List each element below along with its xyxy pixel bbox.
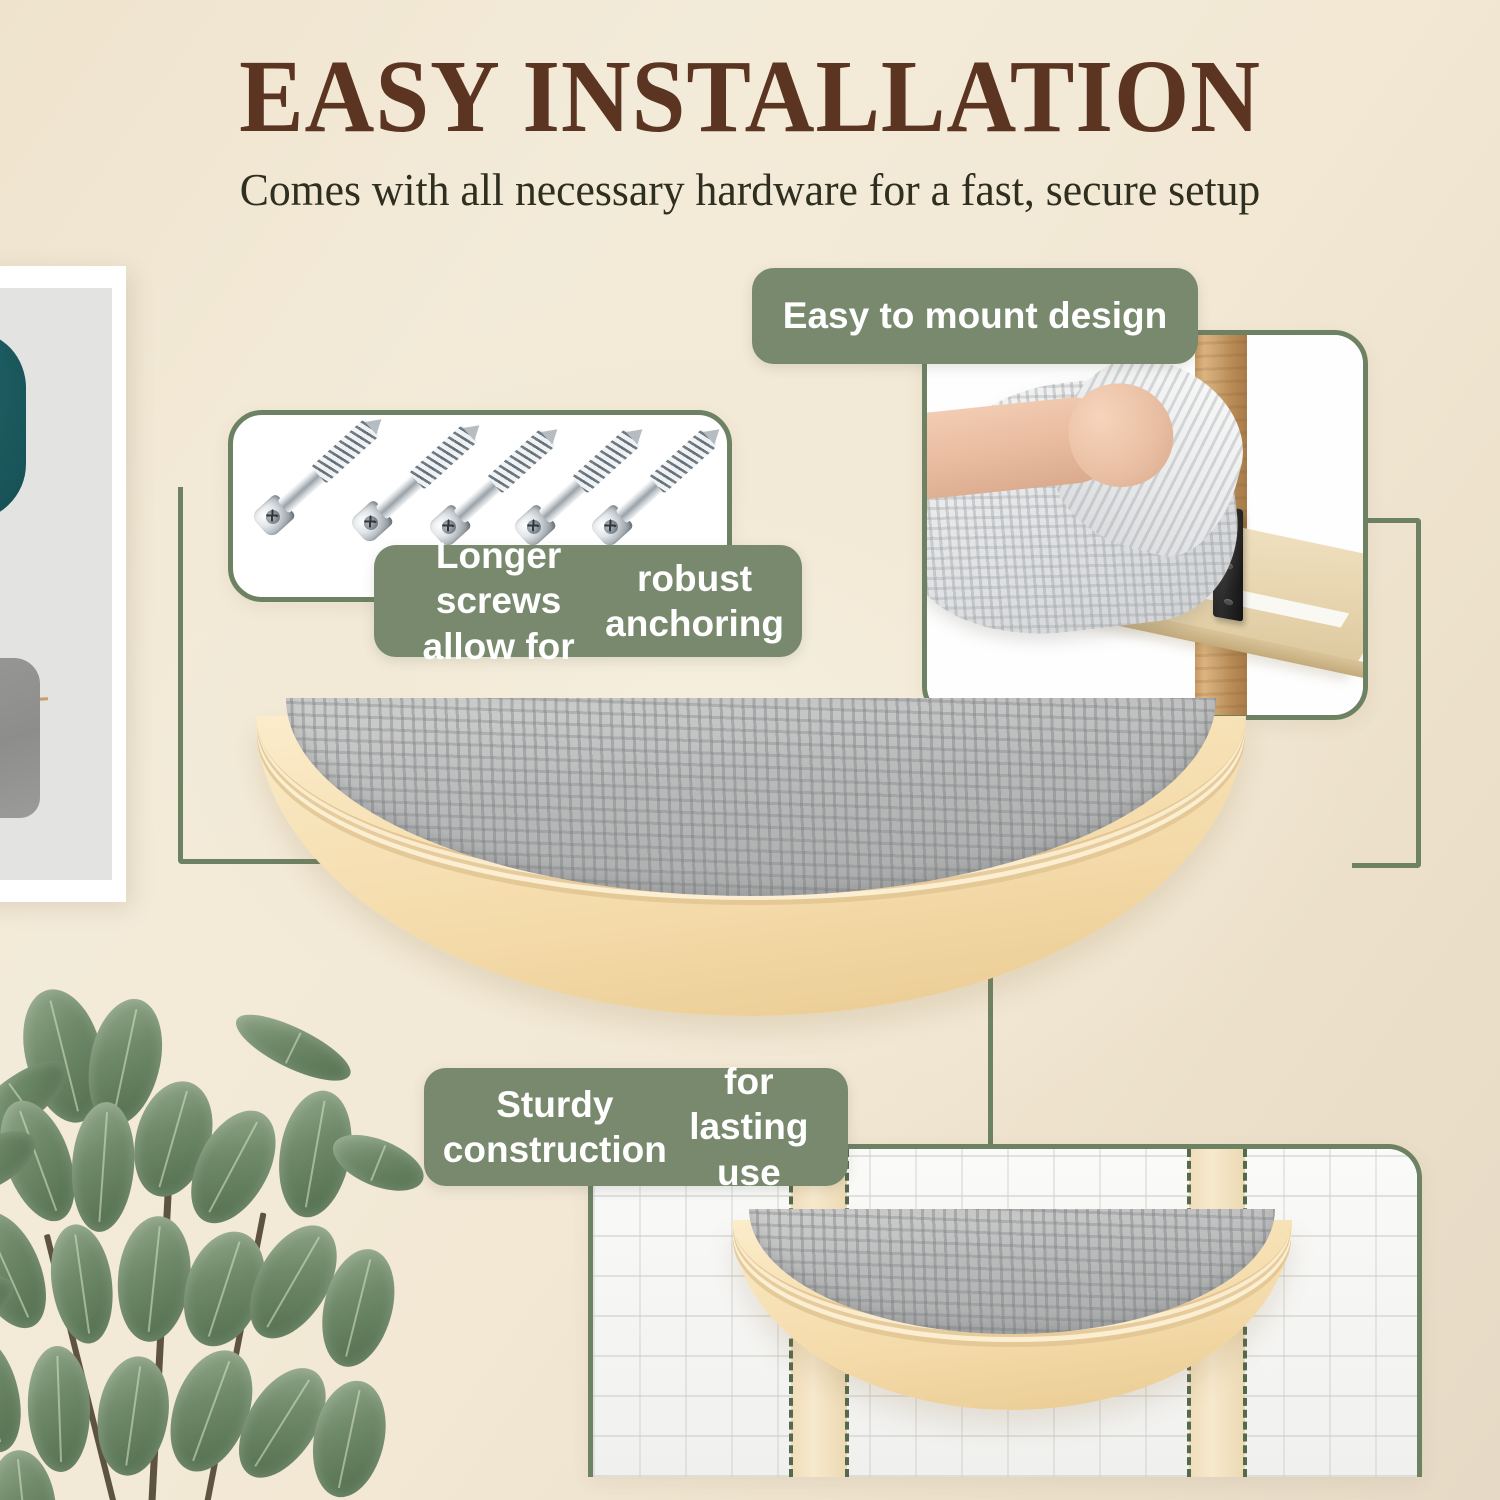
callout-text-line-2: robust anchoring <box>605 556 784 646</box>
plant-leaf <box>0 1200 62 1340</box>
framed-art <box>0 266 126 902</box>
callout-text-line-1: Longer screws allow for <box>392 533 605 668</box>
plant-leaf <box>173 1097 292 1238</box>
mount-scene <box>927 335 1363 715</box>
plant-stem <box>44 1234 122 1500</box>
mount-photo-card <box>922 330 1368 720</box>
plant-leaf <box>221 1353 343 1492</box>
rubber-plant <box>0 980 490 1500</box>
screw-thread <box>311 418 380 483</box>
plant-leaf <box>26 1345 92 1473</box>
plant-stem <box>147 1110 176 1500</box>
plant-leaf <box>310 1242 405 1375</box>
product-hammock-mounted <box>732 1220 1292 1410</box>
plant-stem <box>200 1212 267 1500</box>
art-mat <box>0 288 112 880</box>
plant-leaf <box>11 981 118 1131</box>
plant-leaf <box>232 1211 355 1353</box>
plant-leaf <box>0 1447 62 1500</box>
bracket-hole <box>1224 598 1233 606</box>
plant-leaf <box>170 1221 279 1357</box>
product-hammock-hero <box>256 716 1246 1016</box>
screw-thread <box>487 428 556 493</box>
plant-leaf <box>90 1352 176 1481</box>
callout-label-sturdy-construction: Sturdy construction for lasting use <box>424 1068 848 1186</box>
page-subtitle: Comes with all necessary hardware for a … <box>23 166 1478 216</box>
plant-leaf <box>0 1047 79 1150</box>
screw-thread <box>409 424 478 489</box>
callout-label-easy-to-mount: Easy to mount design <box>752 268 1198 364</box>
plant-leaf <box>121 1072 225 1206</box>
screw-thread <box>649 428 718 493</box>
plant-leaf <box>44 1220 120 1347</box>
screw-thread <box>572 428 641 493</box>
callout-text-line-2: for lasting use <box>668 1059 830 1194</box>
art-grey-shape <box>0 658 40 818</box>
plant-leaf <box>0 1091 90 1231</box>
plant-leaf <box>68 1100 139 1234</box>
callout-text: Easy to mount design <box>783 293 1167 338</box>
art-teal-shape <box>0 332 26 522</box>
callout-label-longer-screws: Longer screws allow for robust anchoring <box>374 545 802 657</box>
plant-leaf <box>228 1002 359 1093</box>
plant-leaf <box>112 1213 197 1346</box>
callout-text-line-1: Sturdy construction <box>442 1082 668 1172</box>
plant-leaf <box>0 1403 10 1500</box>
page-title: EASY INSTALLATION <box>53 44 1448 150</box>
infographic-canvas: EASY INSTALLATION Comes with all necessa… <box>0 0 1500 1500</box>
header-block: EASY INSTALLATION Comes with all necessa… <box>0 44 1500 216</box>
plant-leaf <box>155 1339 268 1483</box>
plant-leaf <box>325 1124 431 1203</box>
plant-leaf <box>0 1326 34 1461</box>
plant-leaf <box>77 992 172 1132</box>
plant-leaf <box>269 1085 360 1223</box>
plant-leaf <box>0 1118 45 1209</box>
plant-leaf <box>302 1374 395 1500</box>
plant-leaf <box>0 1265 21 1339</box>
